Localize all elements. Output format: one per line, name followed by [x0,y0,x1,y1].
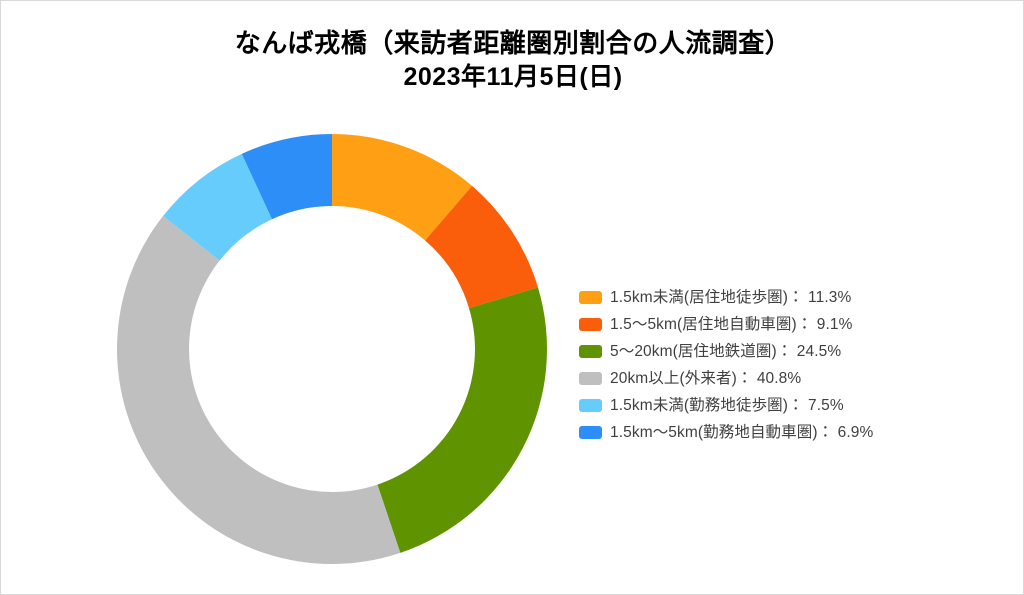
legend-item[interactable]: 5〜20km(居住地鉄道圏)： 24.5% [579,338,979,365]
legend-item-label: 1.5km〜5km(勤務地自動車圏)： 6.9% [610,425,873,441]
legend-color-swatch [579,372,602,385]
legend-color-swatch [579,318,602,331]
legend-item[interactable]: 1.5〜5km(居住地自動車圏)： 9.1% [579,311,979,338]
legend-color-swatch [579,426,602,439]
legend-item-label: 1.5km未満(勤務地徒歩圏)： 7.5% [610,398,844,414]
page-title: なんば戎橋（来訪者距離圏別割合の人流調査） [1,27,1024,61]
donut-slice[interactable]: 5〜20km(居住地鉄道圏)： 24.5% [377,287,547,552]
donut-slice[interactable]: 20km以上(外来者)： 40.8% [117,216,400,564]
legend-item-label: 5〜20km(居住地鉄道圏)： 24.5% [610,344,841,360]
legend-color-swatch [579,291,602,304]
legend-color-swatch [579,345,602,358]
chart-title-block: なんば戎橋（来訪者距離圏別割合の人流調査） 2023年11月5日(日) [1,27,1024,93]
chart-legend: 1.5km未満(居住地徒歩圏)： 11.3%1.5〜5km(居住地自動車圏)： … [579,284,979,446]
legend-item-label: 20km以上(外来者)： 40.8% [610,371,801,387]
chart-subtitle: 2023年11月5日(日) [1,61,1024,94]
legend-item[interactable]: 1.5km〜5km(勤務地自動車圏)： 6.9% [579,419,979,446]
legend-color-swatch [579,399,602,412]
legend-item-label: 1.5km未満(居住地徒歩圏)： 11.3% [610,290,851,306]
chart-card: なんば戎橋（来訪者距離圏別割合の人流調査） 2023年11月5日(日) 1.5k… [0,0,1024,595]
donut-chart-svg: 1.5km未満(居住地徒歩圏)： 11.3%1.5〜5km(居住地自動車圏)： … [117,134,547,564]
legend-item[interactable]: 1.5km未満(勤務地徒歩圏)： 7.5% [579,392,979,419]
legend-item[interactable]: 1.5km未満(居住地徒歩圏)： 11.3% [579,284,979,311]
donut-slice-group: 1.5km未満(居住地徒歩圏)： 11.3%1.5〜5km(居住地自動車圏)： … [117,134,547,564]
legend-item[interactable]: 20km以上(外来者)： 40.8% [579,365,979,392]
donut-chart: 1.5km未満(居住地徒歩圏)： 11.3%1.5〜5km(居住地自動車圏)： … [117,134,547,564]
legend-item-label: 1.5〜5km(居住地自動車圏)： 9.1% [610,317,853,333]
